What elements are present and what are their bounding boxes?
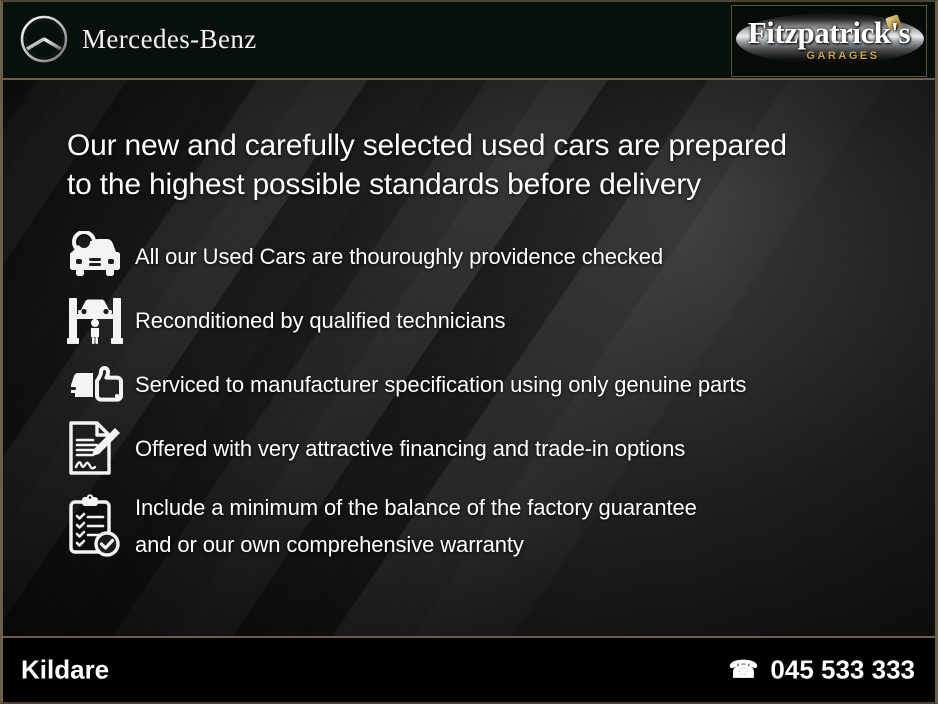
list-item-label-line1: Reconditioned by qualified technicians <box>135 308 505 333</box>
list-item-label-line1: Offered with very attractive financing a… <box>135 436 685 461</box>
logo-name: Fitzpatrick's <box>732 15 926 51</box>
list-item-label-line2: and or our own comprehensive warranty <box>135 526 697 563</box>
contact-phone[interactable]: ☎ 045 533 333 <box>729 655 916 686</box>
mercedes-benz-wordmark: Mercedes-Benz <box>82 24 257 55</box>
promo-slide: Mercedes-Benz Fitzpatrick's GARAGES Our … <box>0 0 938 704</box>
list-item: Serviced to manufacturer specification u… <box>63 356 903 412</box>
benefits-list: All our Used Cars are thouroughly provid… <box>63 228 903 576</box>
phone-number: 045 533 333 <box>770 655 915 686</box>
content-inner: Our new and carefully selected used cars… <box>3 80 935 640</box>
headline-line-2: to the highest possible standards before… <box>67 165 867 204</box>
fitzpatricks-garages-logo[interactable]: Fitzpatrick's GARAGES <box>731 5 927 77</box>
list-item-label: Serviced to manufacturer specification u… <box>135 366 746 403</box>
car-inspection-magnifier-icon <box>63 228 135 284</box>
logo-subtitle: GARAGES <box>732 50 926 62</box>
mercedes-benz-brand: Mercedes-Benz <box>19 14 257 64</box>
list-item-label-line1: Serviced to manufacturer specification u… <box>135 372 746 397</box>
car-on-lift-mechanic-icon <box>63 292 135 348</box>
header-bar: Mercedes-Benz Fitzpatrick's GARAGES <box>3 2 935 80</box>
document-signature-pen-icon <box>63 420 135 476</box>
list-item: Offered with very attractive financing a… <box>63 420 903 476</box>
list-item-label-line1: All our Used Cars are thouroughly provid… <box>135 244 663 269</box>
list-item: All our Used Cars are thouroughly provid… <box>63 228 903 284</box>
location-label: Kildare <box>21 655 109 686</box>
list-item: Reconditioned by qualified technicians <box>63 292 903 348</box>
list-item-label: All our Used Cars are thouroughly provid… <box>135 238 663 275</box>
headline: Our new and carefully selected used cars… <box>67 126 867 204</box>
content-area: Our new and carefully selected used cars… <box>3 80 935 640</box>
clipboard-checklist-check-icon <box>63 484 135 568</box>
list-item-label: Reconditioned by qualified technicians <box>135 302 505 339</box>
list-item: Include a minimum of the balance of the … <box>63 484 903 568</box>
headline-line-1: Our new and carefully selected used cars… <box>67 126 867 165</box>
list-item-label: Include a minimum of the balance of the … <box>135 489 697 563</box>
list-item-label: Offered with very attractive financing a… <box>135 430 685 467</box>
telephone-icon: ☎ <box>729 658 759 682</box>
footer-bar: Kildare ☎ 045 533 333 <box>3 636 935 702</box>
car-thumbs-up-icon <box>63 356 135 412</box>
list-item-label-line1: Include a minimum of the balance of the … <box>135 489 697 526</box>
mercedes-star-icon <box>19 14 69 64</box>
